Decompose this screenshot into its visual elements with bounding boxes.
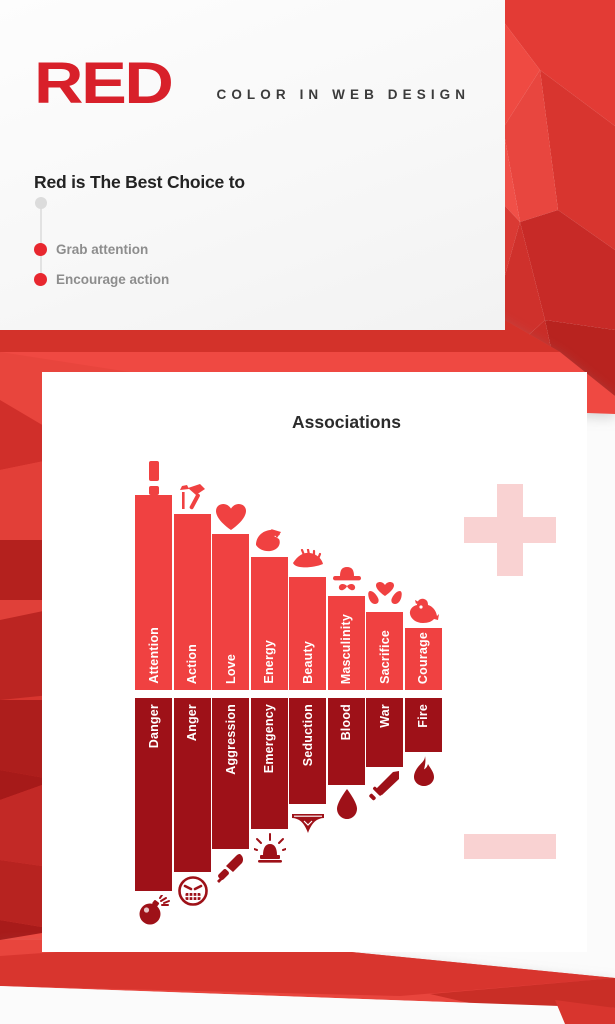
positive-bar-label: Masculinity (339, 608, 353, 690)
list-item: Encourage action (34, 272, 169, 287)
negative-bar-label: Aggression (224, 698, 238, 781)
chart-column: BeautySeduction (289, 450, 327, 920)
chart-column: AttentionDanger (135, 450, 173, 920)
blood-drop-icon (330, 787, 364, 821)
negative-bar-label: Seduction (301, 698, 315, 772)
positive-bar[interactable]: Courage (405, 628, 443, 690)
biceps-icon (253, 523, 287, 557)
positive-bar-label: Beauty (301, 635, 315, 690)
positive-bar-label: Sacrifice (378, 624, 392, 690)
positive-bar-label: Love (224, 648, 238, 690)
bullet-cap-dot (35, 197, 47, 209)
page-title: Associations (292, 412, 401, 433)
negative-bar[interactable]: Aggression (212, 698, 250, 849)
list-item-label: Encourage action (56, 272, 169, 287)
angry-face-icon (176, 874, 210, 908)
negative-bar[interactable]: War (366, 698, 404, 767)
positive-bar-label: Energy (262, 634, 276, 690)
intro-heading: Red is The Best Choice to (34, 172, 245, 193)
heart-in-hands-icon (368, 578, 402, 612)
plus-symbol-icon (464, 484, 556, 576)
exclamation-icon (137, 461, 171, 495)
negative-bar[interactable]: Anger (174, 698, 212, 872)
negative-bar-label: Emergency (262, 698, 276, 779)
minus-symbol-icon (464, 834, 556, 859)
positive-bar[interactable]: Sacrifice (366, 612, 404, 690)
associations-chart: AttentionDangerActionAngerLoveAggression… (135, 450, 445, 920)
bullet-dot-icon (34, 273, 47, 286)
chart-column: ActionAnger (174, 450, 212, 920)
lion-icon (407, 594, 441, 628)
negative-bar[interactable]: Blood (328, 698, 366, 785)
eye-icon (291, 543, 325, 577)
positive-bar[interactable]: Masculinity (328, 596, 366, 690)
positive-bar-label: Attention (147, 621, 161, 690)
negative-bar[interactable]: Seduction (289, 698, 327, 804)
infographic-canvas: RED COLOR IN WEB DESIGN Red is The Best … (0, 0, 615, 1024)
knife-icon (214, 851, 248, 885)
positive-bar-label: Courage (416, 628, 430, 690)
hammer-nail-icon (176, 480, 210, 514)
chart-column: EnergyEmergency (251, 450, 289, 920)
chart-column: LoveAggression (212, 450, 250, 920)
sword-icon (368, 769, 402, 803)
chart-column: CourageFire (405, 450, 443, 920)
positive-bar[interactable]: Energy (251, 557, 289, 690)
hat-mustache-icon (330, 562, 364, 596)
positive-bar[interactable]: Attention (135, 495, 173, 690)
list-item: Grab attention (34, 242, 148, 257)
heart-icon (214, 500, 248, 534)
bomb-icon (137, 893, 171, 927)
negative-bar-label: Danger (147, 698, 161, 754)
bullet-dot-icon (34, 243, 47, 256)
chart-column: SacrificeWar (366, 450, 404, 920)
logo-subtitle: COLOR IN WEB DESIGN (216, 87, 470, 102)
underwear-icon (291, 806, 325, 840)
logo-wordmark: RED (34, 60, 171, 108)
positive-bar[interactable]: Action (174, 514, 212, 690)
list-item-label: Grab attention (56, 242, 148, 257)
brand-header: RED COLOR IN WEB DESIGN (34, 60, 470, 108)
positive-bar[interactable]: Beauty (289, 577, 327, 690)
negative-bar[interactable]: Emergency (251, 698, 289, 829)
negative-bar-label: Fire (416, 698, 430, 734)
negative-bar[interactable]: Danger (135, 698, 173, 891)
positive-bar[interactable]: Love (212, 534, 250, 690)
negative-bar-label: War (378, 698, 392, 734)
flame-icon (407, 754, 441, 788)
negative-bar-label: Anger (185, 698, 199, 747)
siren-icon (253, 831, 287, 865)
negative-bar-label: Blood (339, 698, 353, 746)
chart-column: MasculinityBlood (328, 450, 366, 920)
positive-bar-label: Action (185, 638, 199, 690)
negative-bar[interactable]: Fire (405, 698, 443, 752)
